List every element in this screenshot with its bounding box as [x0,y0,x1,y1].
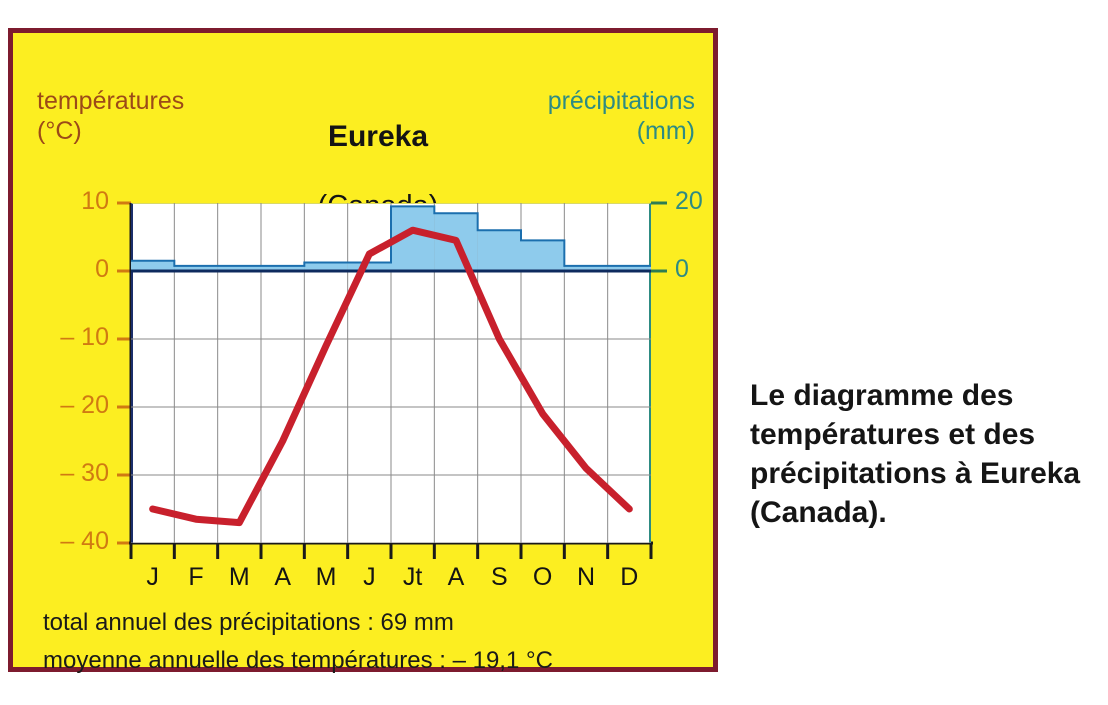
month-label-m: M [304,565,348,590]
precipitation-bar [478,230,521,271]
temperature-axis-title: températures (°C) [37,87,184,146]
month-label-j: J [347,565,391,590]
month-label-d: D [607,565,651,590]
temperature-tick-label: – 10 [19,325,109,350]
month-label-jt: Jt [391,565,435,590]
month-label-j: J [131,565,175,590]
month-label-a: A [434,565,478,590]
precipitation-tick-label: 20 [675,189,745,214]
month-label-o: O [521,565,565,590]
precipitation-tick-label: 0 [675,257,745,282]
figure-caption: Le diagramme des températures et des pré… [750,376,1090,532]
temperature-tick-label: 10 [19,189,109,214]
month-label-n: N [564,565,608,590]
plot-graphics [131,203,651,543]
month-label-f: F [174,565,218,590]
precipitation-outline [131,206,651,266]
precipitation-axis-title: précipitations (mm) [483,87,695,146]
month-label-s: S [477,565,521,590]
annual-precipitation-text: total annuel des précipitations : 69 mm [43,611,454,635]
month-label-m: M [217,565,261,590]
precipitation-bar [521,240,564,271]
title-station: Eureka [268,119,488,154]
climograph-card: températures (°C) précipitations (mm) Eu… [8,28,718,672]
annual-temperature-text: moyenne annuelle des températures : – 19… [43,649,553,673]
precipitation-bar [131,261,174,271]
temperature-tick-label: – 40 [19,529,109,554]
temperature-tick-label: – 30 [19,461,109,486]
temperature-tick-label: 0 [19,257,109,282]
climograph-plot [131,203,651,543]
temperature-tick-label: – 20 [19,393,109,418]
month-label-a: A [261,565,305,590]
